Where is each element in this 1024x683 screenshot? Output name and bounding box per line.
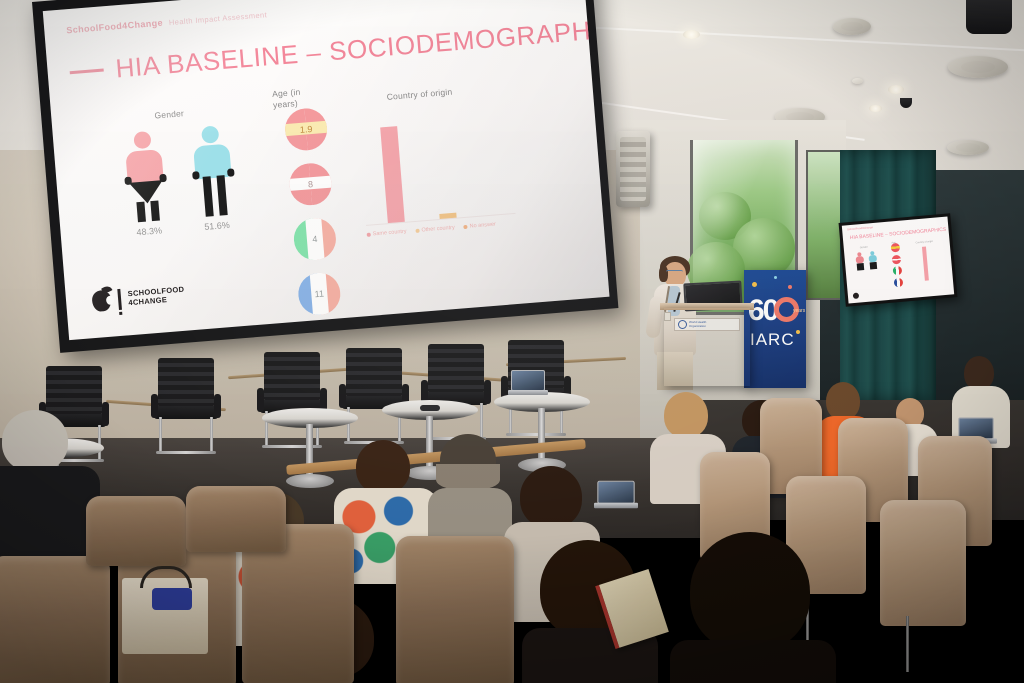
ceiling-downlight (888, 85, 904, 94)
age-circle: 4 (292, 216, 337, 261)
ceiling-projector-mount (966, 0, 1012, 34)
female-percentage: 48.3% (126, 225, 173, 239)
banner-number: 60 (748, 296, 777, 326)
wall-speaker-icon (616, 131, 650, 207)
age-value: 11 (314, 289, 324, 300)
audience-seat (86, 496, 186, 566)
exclamation-icon (117, 289, 122, 310)
ceiling-downlight (683, 30, 700, 39)
ceiling-speaker (948, 56, 1008, 78)
podium-nameplate: World Health Organization (674, 318, 740, 331)
banner-org: IARC (750, 330, 795, 350)
legend-label: Same country (372, 229, 406, 238)
legend-label: No answer (469, 222, 496, 230)
gender-panel-label: Gender (154, 108, 184, 120)
projection-screen: SchoolFood4ChangeHealth Impact Assessmen… (32, 0, 618, 353)
legend-label: Other country (421, 225, 455, 234)
slide-header-brand: SchoolFood4Change (66, 18, 163, 36)
side-monitor: SchoolFood4Change HIA BASELINE – SOCIODE… (839, 213, 958, 306)
male-percentage: 51.6% (194, 219, 241, 233)
apple-icon (91, 290, 112, 312)
ceiling-downlight (869, 105, 882, 112)
round-table (262, 408, 358, 494)
audience-laptop (594, 481, 638, 510)
country-bar-chart (357, 104, 515, 226)
logo-line-2: 4CHANGE (128, 295, 167, 307)
ceiling-speaker (833, 18, 871, 35)
glasses-icon (666, 270, 683, 274)
legend-item: Other country (415, 225, 455, 234)
monitor-header: SchoolFood4Change (847, 226, 873, 231)
gender-panel: 48.3% 51.6% (108, 124, 251, 239)
logo-text: SCHOOLFOOD 4CHANGE (127, 285, 185, 307)
age-panel: 1.9 8 4 (270, 106, 357, 331)
schoolfood4change-logo: SCHOOLFOOD 4CHANGE (91, 284, 185, 312)
smoke-detector-icon (852, 78, 863, 84)
country-panel: Same country Other country No answer (356, 90, 516, 238)
panel-chair (150, 358, 222, 454)
monitor-bar (922, 247, 929, 281)
monitor-logo (853, 293, 860, 300)
legend-item: No answer (463, 222, 496, 231)
iarc-banner: 60 years IARC (744, 270, 806, 388)
monitor-country-label: Country of origin (915, 240, 933, 245)
age-circle: 8 (288, 162, 333, 207)
slide-content: SchoolFood4ChangeHealth Impact Assessmen… (43, 0, 610, 340)
ceiling-speaker (947, 140, 989, 155)
monitor-gender-figures (855, 251, 877, 271)
who-emblem-icon (678, 320, 687, 329)
slide-header: SchoolFood4ChangeHealth Impact Assessmen… (66, 9, 267, 35)
audience-seat (396, 536, 514, 683)
monitor-age-circles (891, 243, 904, 290)
audience-seat (880, 500, 966, 626)
male-figure-icon (186, 124, 239, 217)
legend-item: Same country (367, 229, 407, 238)
female-figure-icon (118, 130, 171, 223)
age-circle: 11 (297, 271, 342, 316)
conference-room-photo: SchoolFood4ChangeHealth Impact Assessmen… (0, 0, 1024, 683)
plate-line-2: Organization (689, 324, 706, 328)
bar-same-country (380, 126, 405, 223)
seat-leg (906, 616, 909, 672)
stage-laptop (508, 370, 548, 396)
podium-plate-text: World Health Organization (689, 321, 706, 328)
age-value: 4 (312, 234, 318, 244)
remote-control (420, 405, 440, 411)
age-panel-label-text: Age (in years) (272, 87, 301, 110)
monitor-gender-label: Gender (860, 246, 868, 250)
round-table (494, 392, 590, 478)
age-value: 1.9 (299, 124, 312, 135)
title-dash-icon (70, 68, 104, 74)
bag-contents (152, 588, 192, 610)
bar-other-country (439, 212, 456, 219)
age-circle: 1.9 (283, 107, 328, 152)
audience-seat (0, 556, 110, 683)
banner-years-label: years (793, 308, 805, 314)
slide-header-subtitle: Health Impact Assessment (169, 10, 268, 27)
age-value: 8 (308, 179, 314, 189)
window-secondary (806, 150, 842, 300)
audience-seat (186, 486, 286, 552)
